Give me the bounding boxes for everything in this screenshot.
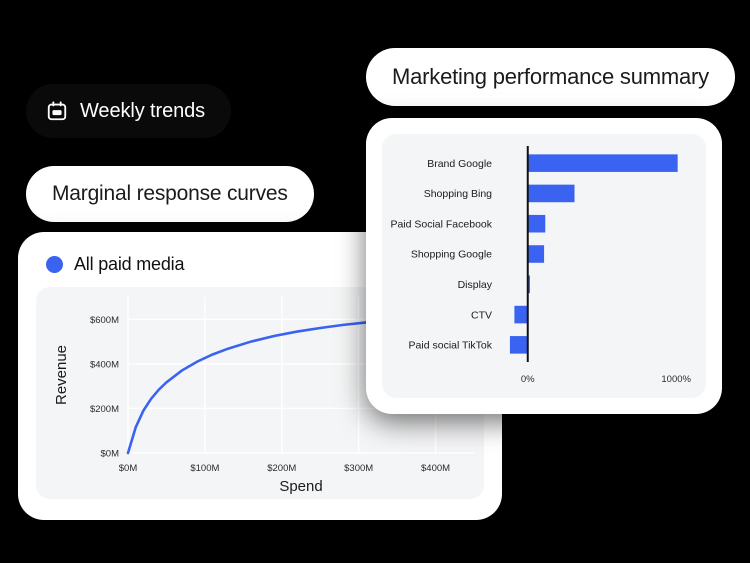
x-axis-tick-label: $0M — [119, 463, 138, 474]
y-axis-tick-label: $400M — [90, 359, 119, 370]
x-axis-tick-label: 0% — [521, 374, 535, 385]
x-axis-title: Spend — [279, 478, 322, 495]
response-curve-line — [128, 320, 389, 453]
x-axis-tick-label: $200M — [267, 463, 296, 474]
bar-category-label: Shopping Google — [411, 249, 492, 261]
marketing-performance-summary-pill[interactable]: Marketing performance summary — [366, 48, 735, 106]
bar-category-label: CTV — [471, 309, 492, 321]
marketing-performance-summary-label: Marketing performance summary — [392, 64, 709, 90]
bar — [528, 154, 678, 172]
y-axis-tick-label: $0M — [101, 449, 120, 460]
bar — [528, 185, 575, 203]
performance-bar-plot-panel: Brand GoogleShopping BingPaid Social Fac… — [382, 134, 706, 398]
bar — [514, 306, 527, 324]
y-axis-tick-label: $200M — [90, 404, 119, 415]
x-axis-tick-label: $300M — [344, 463, 373, 474]
bar — [528, 215, 546, 233]
bar — [528, 245, 544, 263]
screenshot-stage: Weekly trends Marginal response curves M… — [0, 0, 750, 563]
marketing-performance-summary-card: Brand GoogleShopping BingPaid Social Fac… — [366, 118, 722, 414]
weekly-trends-label: Weekly trends — [80, 100, 205, 123]
bar-category-label: Paid Social Facebook — [390, 218, 492, 230]
marginal-response-curves-label: Marginal response curves — [52, 182, 288, 206]
x-axis-tick-label: $100M — [190, 463, 219, 474]
performance-bar-svg: Brand GoogleShopping BingPaid Social Fac… — [382, 134, 706, 398]
bar-category-label: Display — [458, 279, 493, 291]
legend-label: All paid media — [74, 254, 184, 275]
y-axis-tick-label: $600M — [90, 315, 119, 326]
x-axis-tick-label: $400M — [421, 463, 450, 474]
legend-color-dot — [46, 256, 63, 273]
bar-category-label: Brand Google — [427, 158, 492, 170]
x-axis-tick-label: 1000% — [661, 374, 691, 385]
bar-category-label: Shopping Bing — [424, 188, 492, 200]
bar-category-label: Paid social TikTok — [409, 340, 493, 352]
y-axis-title: Revenue — [53, 345, 70, 405]
marginal-response-curves-pill[interactable]: Marginal response curves — [26, 166, 314, 222]
calendar-icon — [46, 100, 68, 122]
weekly-trends-pill[interactable]: Weekly trends — [26, 84, 231, 138]
bar — [510, 336, 528, 354]
